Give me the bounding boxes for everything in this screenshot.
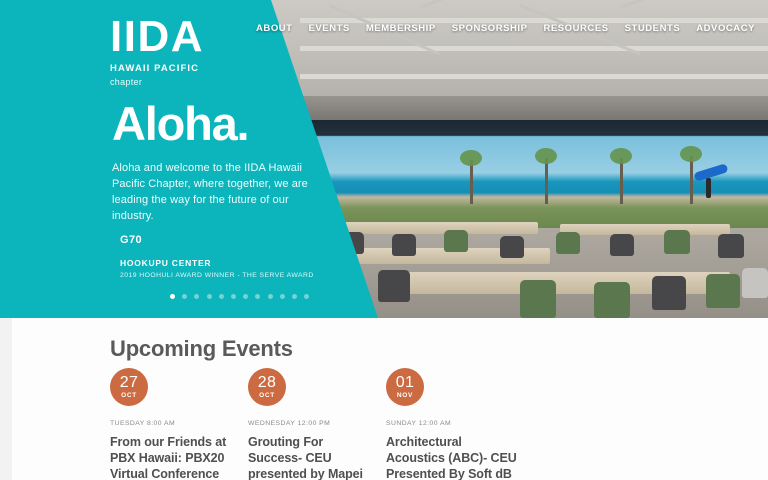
logo-wordmark: IIDA bbox=[110, 16, 204, 58]
caption-project-name: HOOKUPU CENTER bbox=[120, 258, 314, 268]
upcoming-events-section: Upcoming Events 27 OCT TUESDAY 8:00 AM F… bbox=[0, 318, 768, 480]
hero-paragraph: Aloha and welcome to the IIDA Hawaii Pac… bbox=[112, 161, 317, 225]
logo-chapter-name: HAWAII PACIFIC bbox=[110, 63, 204, 74]
slider-dot-6[interactable] bbox=[231, 294, 236, 299]
slider-dot-7[interactable] bbox=[243, 294, 248, 299]
event-date-month: OCT bbox=[259, 393, 275, 400]
event-date-month: NOV bbox=[397, 393, 413, 400]
main-navigation[interactable]: ABOUT EVENTS MEMBERSHIP SPONSORSHIP RESO… bbox=[256, 23, 755, 34]
slider-dot-2[interactable] bbox=[182, 294, 187, 299]
nav-item-students[interactable]: STUDENTS bbox=[625, 23, 681, 34]
slider-dot-9[interactable] bbox=[268, 294, 273, 299]
hero-slide-caption: G70 HOOKUPU CENTER 2019 HOOHULI AWARD WI… bbox=[120, 234, 314, 279]
section-title: Upcoming Events bbox=[110, 336, 293, 362]
caption-award-line: 2019 HOOHULI AWARD WINNER - THE SERVE AW… bbox=[120, 272, 314, 279]
slider-dots[interactable] bbox=[170, 294, 309, 299]
slider-dot-5[interactable] bbox=[219, 294, 224, 299]
slider-dot-4[interactable] bbox=[207, 294, 212, 299]
events-card-list: 27 OCT TUESDAY 8:00 AM From our Friends … bbox=[110, 368, 522, 480]
event-date-day: 28 bbox=[258, 375, 276, 391]
event-date-badge: 27 OCT bbox=[110, 368, 148, 406]
event-title[interactable]: From our Friends at PBX Hawaii: PBX20 Vi… bbox=[110, 434, 230, 480]
event-date-day: 01 bbox=[396, 375, 414, 391]
event-date-day: 27 bbox=[120, 375, 138, 391]
event-datetime: TUESDAY 8:00 AM bbox=[110, 420, 230, 427]
slider-dot-1[interactable] bbox=[170, 294, 175, 299]
event-date-badge: 01 NOV bbox=[386, 368, 424, 406]
slider-dot-11[interactable] bbox=[292, 294, 297, 299]
event-datetime: SUNDAY 12:00 AM bbox=[386, 420, 522, 427]
logo-chapter-label: chapter bbox=[110, 77, 204, 87]
slider-dot-12[interactable] bbox=[304, 294, 309, 299]
site-logo[interactable]: IIDA HAWAII PACIFIC chapter bbox=[110, 16, 204, 87]
nav-item-sponsorship[interactable]: SPONSORSHIP bbox=[452, 23, 528, 34]
event-date-badge: 28 OCT bbox=[248, 368, 286, 406]
nav-item-events[interactable]: EVENTS bbox=[309, 23, 350, 34]
event-datetime: WEDNESDAY 12:00 PM bbox=[248, 420, 368, 427]
slider-dot-10[interactable] bbox=[280, 294, 285, 299]
event-card[interactable]: 28 OCT WEDNESDAY 12:00 PM Grouting For S… bbox=[248, 368, 368, 480]
hero-headline: Aloha. bbox=[112, 100, 337, 147]
event-date-month: OCT bbox=[121, 393, 137, 400]
nav-item-advocacy[interactable]: ADVOCACY bbox=[696, 23, 755, 34]
event-title[interactable]: Grouting For Success- CEU presented by M… bbox=[248, 434, 368, 480]
page-root: IIDA HAWAII PACIFIC chapter ABOUT EVENTS… bbox=[0, 0, 768, 480]
event-card[interactable]: 01 NOV SUNDAY 12:00 AM Architectural Aco… bbox=[386, 368, 522, 480]
nav-item-membership[interactable]: MEMBERSHIP bbox=[366, 23, 436, 34]
left-rail bbox=[0, 318, 12, 480]
hero-banner: IIDA HAWAII PACIFIC chapter ABOUT EVENTS… bbox=[0, 0, 768, 318]
caption-project-code: G70 bbox=[120, 234, 314, 246]
hero-copy: Aloha. Aloha and welcome to the IIDA Haw… bbox=[112, 100, 337, 225]
slider-dot-3[interactable] bbox=[194, 294, 199, 299]
event-card[interactable]: 27 OCT TUESDAY 8:00 AM From our Friends … bbox=[110, 368, 230, 480]
nav-item-about[interactable]: ABOUT bbox=[256, 23, 293, 34]
nav-item-resources[interactable]: RESOURCES bbox=[543, 23, 608, 34]
slider-dot-8[interactable] bbox=[255, 294, 260, 299]
event-title[interactable]: Architectural Acoustics (ABC)- CEU Prese… bbox=[386, 434, 522, 480]
